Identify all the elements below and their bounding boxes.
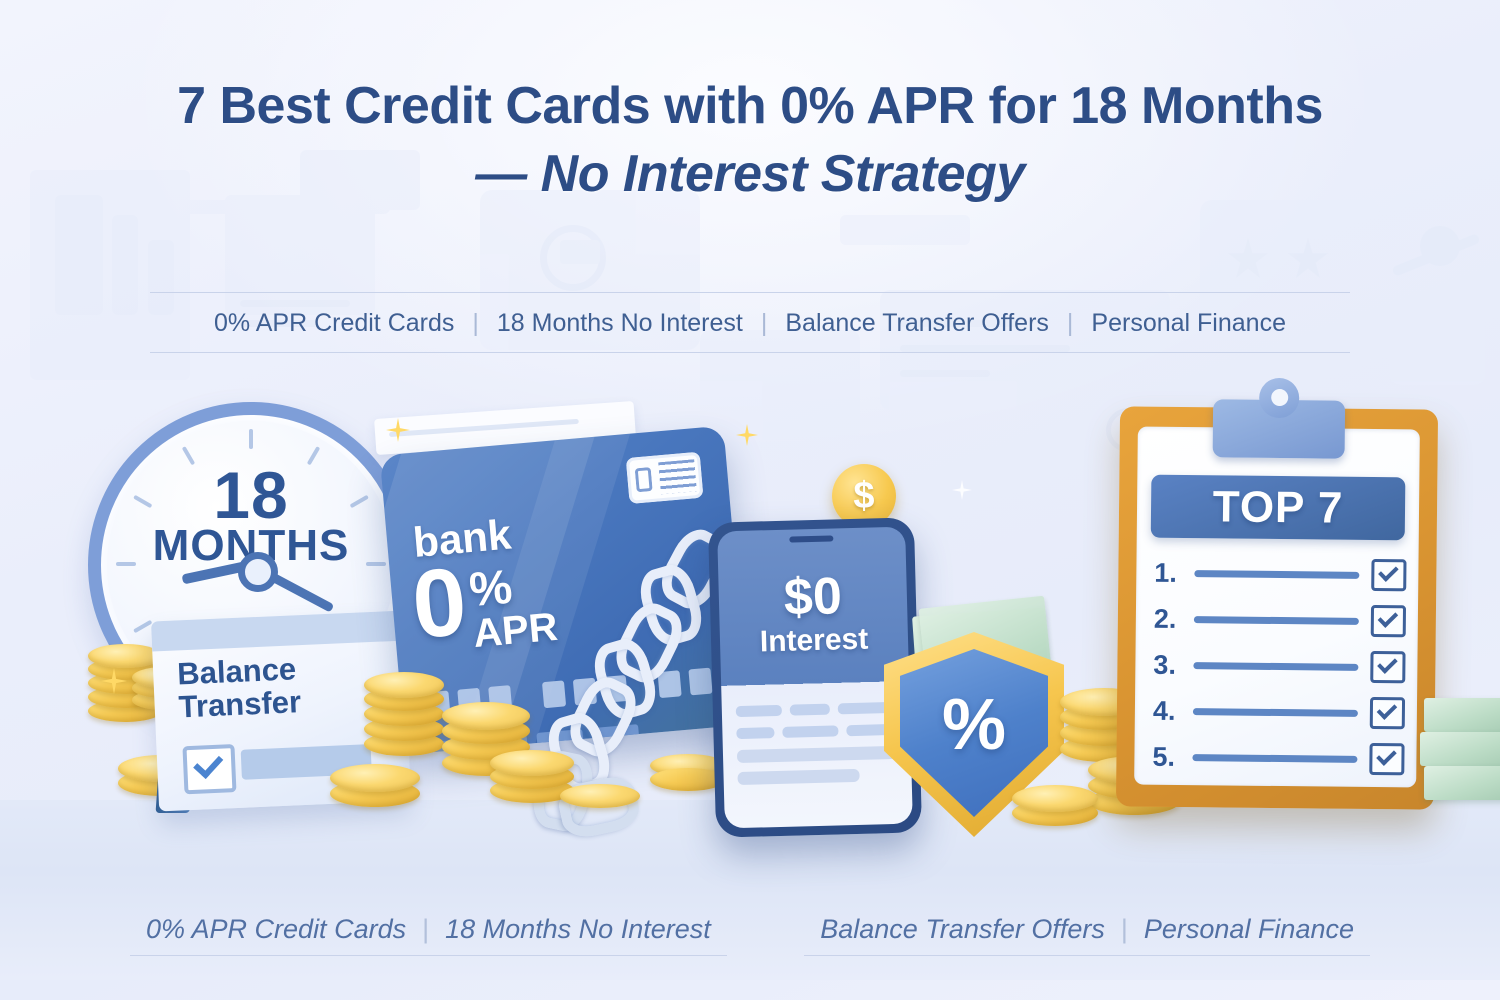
banknote-stack-right — [1424, 698, 1500, 732]
list-number: 5. — [1152, 741, 1192, 772]
banknote-stack-right — [1420, 732, 1500, 766]
banknote-stack-right — [1424, 766, 1500, 800]
tag-item-1: 18 Months No Interest — [479, 309, 761, 338]
list-line — [1193, 708, 1358, 717]
phone-content-rows — [736, 702, 898, 794]
balance-card-text: Balance Transfer — [177, 653, 302, 723]
footer-separator: | — [1121, 914, 1128, 945]
clipboard-paper: TOP 7 1. 2. 3. — [1134, 427, 1420, 788]
footer-tag-1: 18 Months No Interest — [429, 914, 727, 945]
clock-number: 18 — [107, 465, 395, 526]
clipboard-rows: 1. 2. 3. 4. — [1152, 557, 1406, 790]
list-line — [1194, 570, 1359, 579]
page-header: 7 Best Credit Cards with 0% APR for 18 M… — [0, 78, 1500, 202]
balance-checkbox-icon — [182, 744, 236, 794]
list-line — [1193, 662, 1358, 671]
list-line — [1194, 616, 1359, 625]
dollar-symbol: $ — [853, 475, 874, 518]
phone-headline: $0 Interest — [718, 571, 908, 661]
checkbox-icon — [1371, 605, 1406, 637]
checkbox-icon — [1370, 697, 1405, 729]
card-chip-icon — [626, 452, 704, 504]
footer-group-left: 0% APR Credit Cards | 18 Months No Inter… — [130, 914, 727, 956]
tag-item-3: Personal Finance — [1073, 309, 1304, 338]
list-number: 1. — [1154, 557, 1194, 588]
clipboard-top7: TOP 7 1. 2. 3. — [1116, 406, 1438, 809]
shield-percent-symbol: % — [884, 684, 1064, 766]
clipboard-header-text: TOP 7 — [1213, 482, 1344, 533]
checkbox-icon — [1371, 559, 1406, 591]
list-item: 2. — [1154, 603, 1406, 638]
checkbox-icon — [1370, 651, 1405, 683]
illustration-scene: 18 MONTHS Bal — [0, 380, 1500, 880]
divider-top — [150, 292, 1350, 293]
clipboard-clamp — [1213, 399, 1346, 458]
tag-item-2: Balance Transfer Offers — [767, 309, 1067, 338]
infographic-banner: 7 Best Credit Cards with 0% APR for 18 M… — [0, 0, 1500, 1000]
footer-tag-3: Personal Finance — [1128, 914, 1370, 945]
phone-amount: $0 — [718, 571, 907, 625]
list-number: 4. — [1153, 695, 1193, 726]
list-number: 2. — [1154, 603, 1194, 634]
checkbox-icon — [1369, 743, 1404, 775]
tag-bar: 0% APR Credit Cards | 18 Months No Inter… — [0, 300, 1500, 346]
clipboard-header: TOP 7 — [1151, 475, 1406, 541]
balance-line-2: Transfer — [178, 684, 302, 724]
list-line — [1192, 754, 1357, 763]
page-title: 7 Best Credit Cards with 0% APR for 18 M… — [0, 78, 1500, 202]
sparkle-icon — [952, 480, 972, 500]
list-number: 3. — [1153, 649, 1193, 680]
card-zero: 0 — [409, 559, 470, 650]
footer-group-right: Balance Transfer Offers | Personal Finan… — [804, 914, 1370, 956]
clock-hub — [238, 552, 278, 592]
footer-separator: | — [422, 914, 429, 945]
title-line-1: 7 Best Credit Cards with 0% APR for 18 M… — [0, 78, 1500, 134]
sparkle-icon — [736, 424, 758, 446]
footer-tag-2: Balance Transfer Offers — [804, 914, 1121, 945]
clock-label: 18 MONTHS — [107, 465, 395, 566]
list-item: 4. — [1153, 695, 1405, 730]
list-item: 1. — [1154, 557, 1406, 592]
footer-tag-0: 0% APR Credit Cards — [130, 914, 422, 945]
list-item: 5. — [1152, 741, 1404, 776]
phone-notch — [789, 535, 833, 542]
title-line-2: — No Interest Strategy — [0, 146, 1500, 202]
divider-bottom — [150, 352, 1350, 353]
list-item: 3. — [1153, 649, 1405, 684]
tag-item-0: 0% APR Credit Cards — [196, 309, 472, 338]
footer-bar: 0% APR Credit Cards | 18 Months No Inter… — [0, 905, 1500, 965]
phone-label: Interest — [720, 622, 909, 661]
